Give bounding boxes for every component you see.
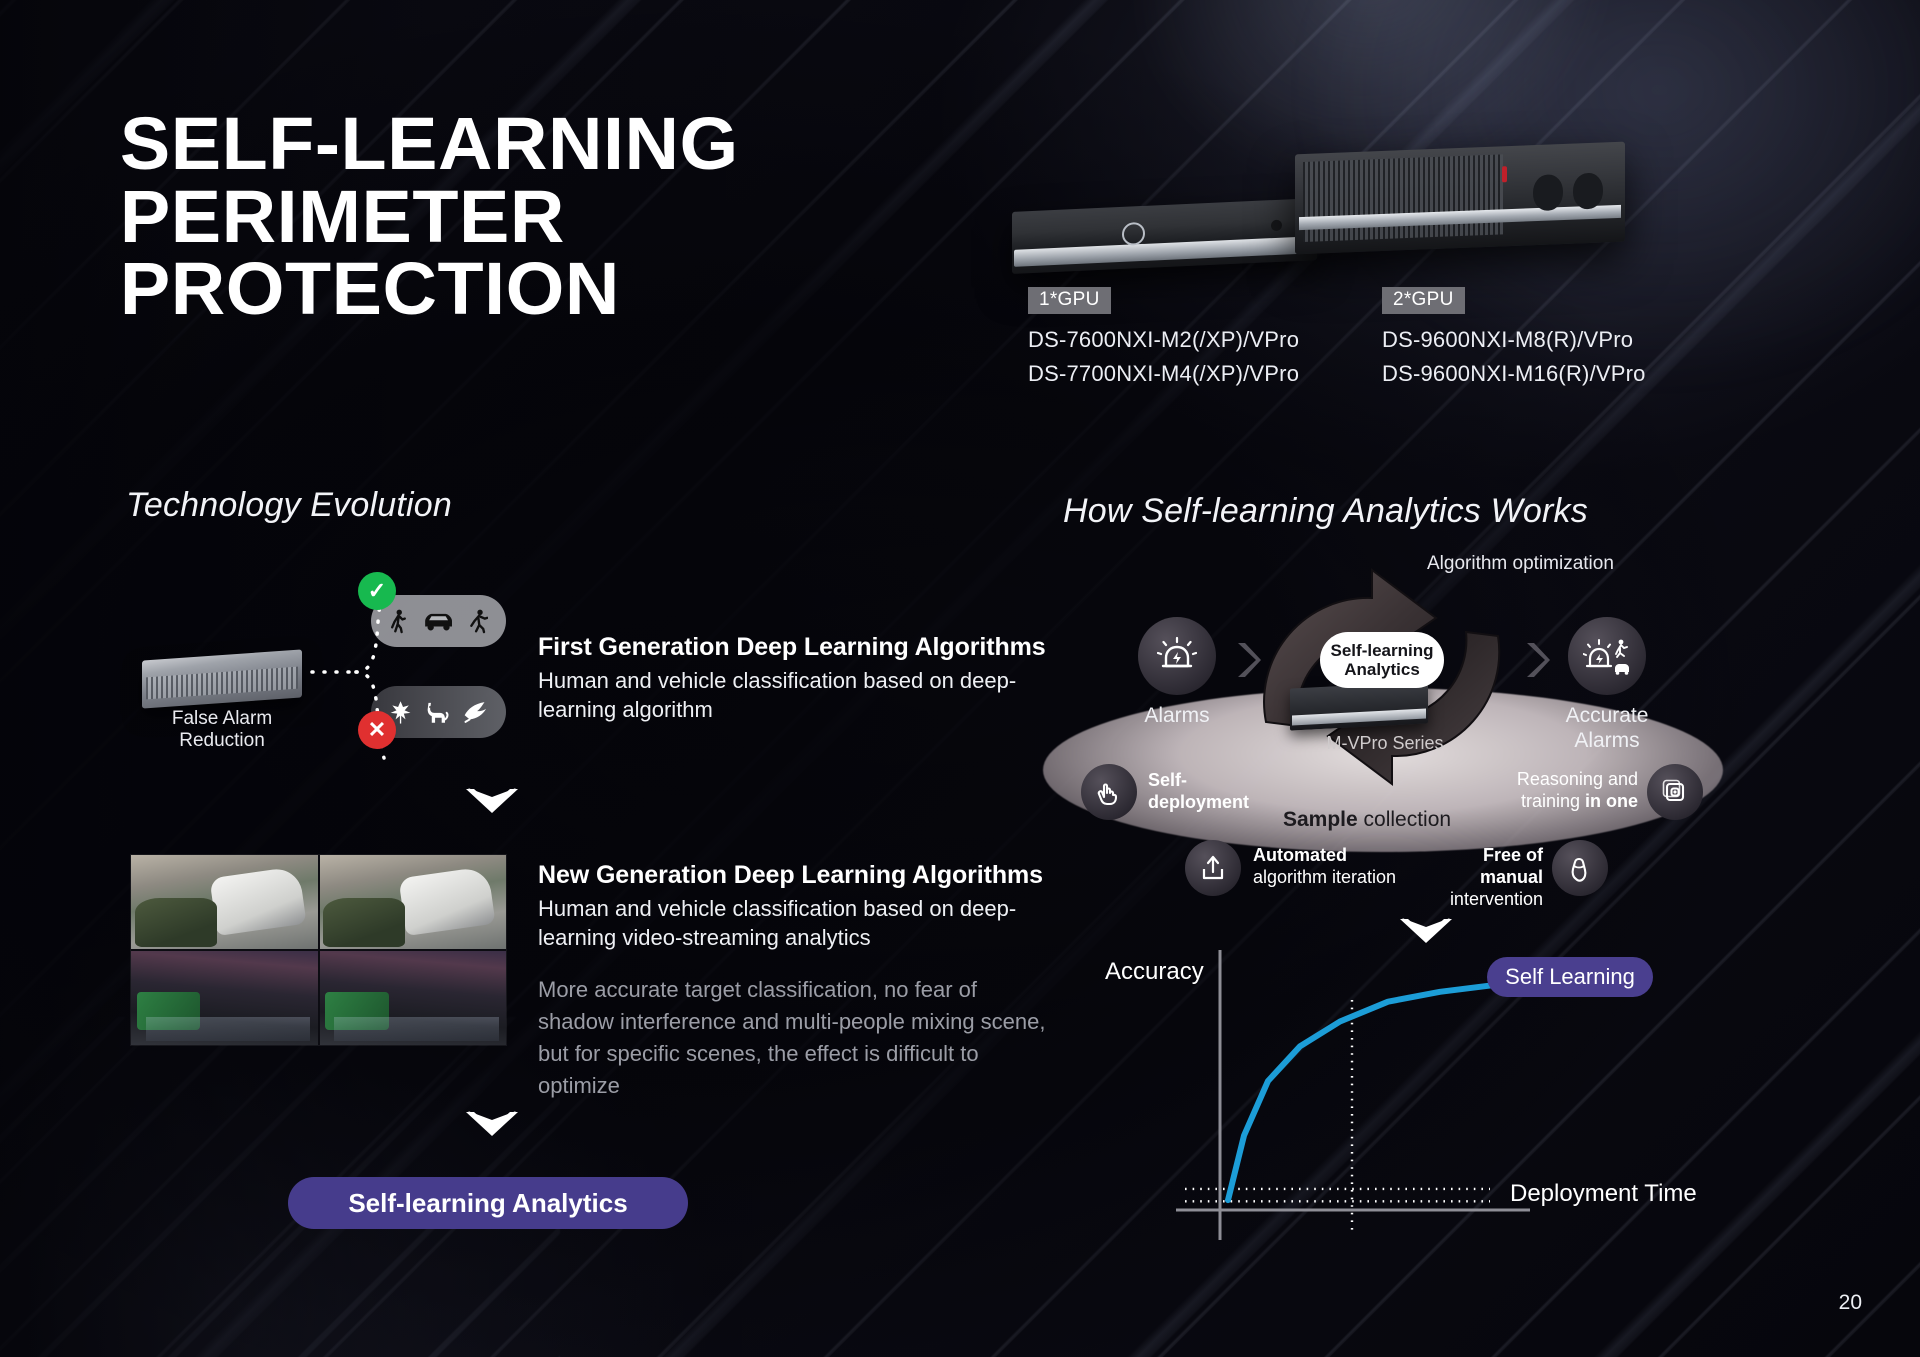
hand-tap-icon (1094, 777, 1124, 807)
accurate-alarms-label: Accurate Alarms (1532, 703, 1682, 753)
layers-icon (1660, 777, 1690, 807)
video-cell-night-1 (131, 951, 318, 1045)
alarms-circle (1138, 617, 1216, 695)
accurate-alarms-line2: Alarms (1532, 728, 1682, 753)
sample-collection-rest: collection (1358, 808, 1451, 831)
model-1: DS-7600NXI-M2(/XP)/VPro (1028, 325, 1299, 355)
gpu-tag-1: 1*GPU (1028, 287, 1111, 314)
gen2-heading: New Generation Deep Learning Algorithms (538, 861, 1058, 890)
product-group-1gpu: 1*GPU DS-7600NXI-M2(/XP)/VPro DS-7700NXI… (1028, 285, 1299, 388)
accurate-alarms-line1: Accurate (1532, 703, 1682, 728)
model-3: DS-9600NXI-M8(R)/VPro (1382, 325, 1646, 355)
car-icon (422, 608, 455, 634)
nvr-thumbnail-image (142, 649, 302, 708)
dog-icon (426, 697, 449, 727)
bird-icon (463, 698, 488, 726)
page-title: SELF-LEARNING PERIMETER PROTECTION (120, 108, 739, 326)
video-analytics-thumbnails (131, 855, 506, 1045)
gen2-body: Human and vehicle classification based o… (538, 894, 1058, 952)
siren-icon (1157, 636, 1197, 676)
title-line-3: PROTECTION (120, 253, 739, 326)
reasoning-bold: in one (1585, 791, 1638, 811)
gen2-text-block: New Generation Deep Learning Algorithms … (538, 861, 1058, 1102)
check-icon: ✓ (358, 572, 396, 610)
sample-collection-bold: Sample (1283, 808, 1358, 831)
siren-detection-icon (1583, 636, 1631, 676)
gen1-heading: First Generation Deep Learning Algorithm… (538, 633, 1058, 662)
self-deployment-bold: Self- (1148, 770, 1187, 790)
title-line-1: SELF-LEARNING (120, 108, 739, 181)
free-manual-bold: Free of manual (1480, 845, 1543, 887)
product-group-2gpu: 2*GPU DS-9600NXI-M8(R)/VPro DS-9600NXI-M… (1382, 285, 1646, 388)
sample-collection-label: Sample collection (1283, 808, 1451, 832)
nvr-knob-icon (1122, 222, 1145, 246)
cycle-center-pill: Self-learning Analytics (1320, 632, 1444, 688)
no-touch-icon (1565, 853, 1595, 883)
automated-rest: algorithm iteration (1253, 867, 1396, 887)
free-manual-label: Free of manual intervention (1418, 845, 1543, 911)
model-4: DS-9600NXI-M16(R)/VPro (1382, 359, 1646, 389)
self-learning-legend-pill: Self Learning (1487, 957, 1653, 997)
chevron-down-icon-1 (464, 785, 520, 819)
automated-iteration-circle (1185, 840, 1241, 896)
technology-evolution-heading: Technology Evolution (126, 486, 452, 525)
pedestrian-icon (389, 606, 408, 636)
gpu-tag-2: 2*GPU (1382, 287, 1465, 314)
gen1-text-block: First Generation Deep Learning Algorithm… (538, 633, 1058, 724)
video-cell-day-2 (320, 855, 507, 949)
chart-curve-self-learning (1228, 972, 1620, 1200)
accurate-alarms-circle (1568, 617, 1646, 695)
model-2: DS-7700NXI-M4(/XP)/VPro (1028, 359, 1299, 389)
nvr-led-icon (1271, 220, 1282, 231)
how-it-works-heading: How Self-learning Analytics Works (1063, 492, 1588, 531)
cycle-center-line2: Analytics (1344, 660, 1420, 679)
gen1-body: Human and vehicle classification based o… (538, 666, 1058, 724)
video-cell-day-1 (131, 855, 318, 949)
gen2-note: More accurate target classification, no … (538, 974, 1058, 1102)
cross-icon: ✕ (358, 711, 396, 749)
self-learning-analytics-pill[interactable]: Self-learning Analytics (288, 1177, 688, 1229)
nvr-2gpu-image (1295, 142, 1625, 255)
reasoning-training-circle (1647, 764, 1703, 820)
automated-iteration-label: Automated algorithm iteration (1253, 845, 1396, 889)
chevron-down-icon-2 (464, 1108, 520, 1142)
alarms-label: Alarms (1117, 703, 1237, 728)
page-number: 20 (1839, 1291, 1862, 1315)
title-line-2: PERIMETER (120, 181, 739, 254)
free-manual-circle (1552, 840, 1608, 896)
mvpro-series-label: M-VPro Series (1300, 733, 1470, 754)
false-alarm-reduction-label: False Alarm Reduction (127, 708, 317, 752)
video-cell-night-2 (320, 951, 507, 1045)
upload-icon (1198, 853, 1228, 883)
running-person-icon (469, 606, 488, 636)
automated-bold: Automated (1253, 845, 1347, 865)
cycle-center-line1: Self-learning (1331, 641, 1434, 660)
nvr-1gpu-image (1012, 198, 1317, 274)
self-deployment-circle (1081, 764, 1137, 820)
free-manual-rest: intervention (1450, 889, 1543, 909)
mvpro-device-image (1290, 681, 1428, 730)
